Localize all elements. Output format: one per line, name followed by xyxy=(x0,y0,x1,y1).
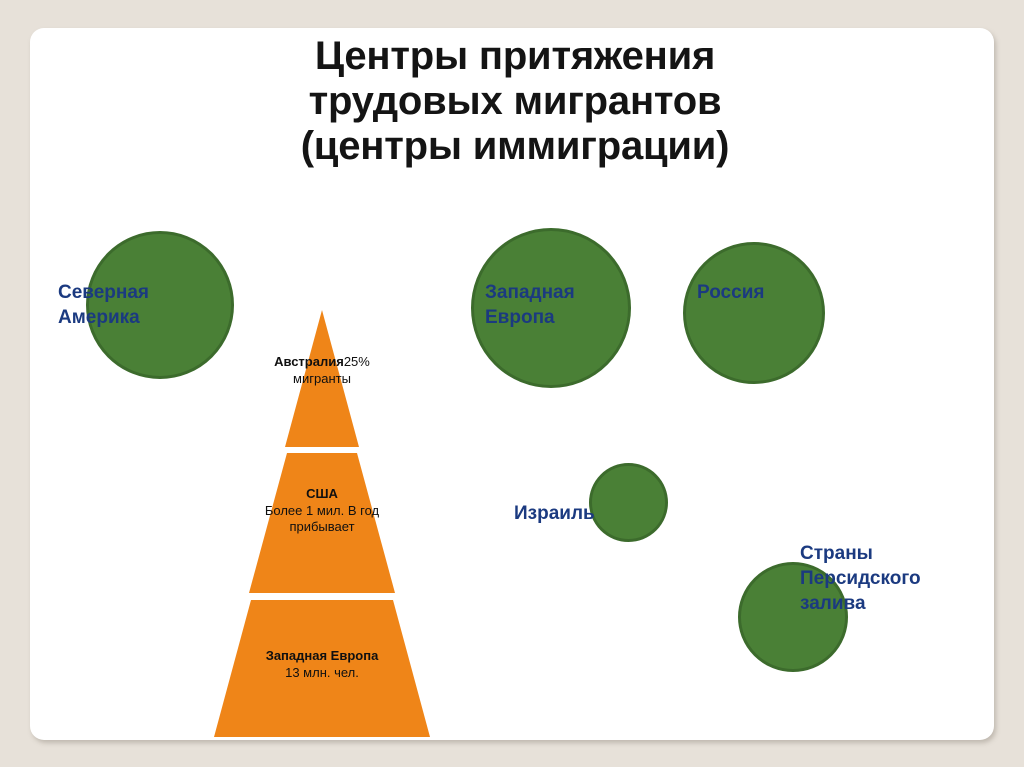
bubble-label-north-america: Северная Америка xyxy=(58,280,149,330)
pyramid-label-top-detail: мигранты xyxy=(222,371,422,388)
pyramid-label-middle-detail: прибывает xyxy=(222,519,422,536)
bubble-russia[interactable] xyxy=(683,242,825,384)
pyramid-label-bottom-region: Западная Европа xyxy=(266,648,379,663)
bubble-label-western-europe-line-2: Европа xyxy=(485,305,575,330)
bubble-label-russia: Россия xyxy=(697,280,764,305)
slide-canvas: Центры притяжения трудовых мигрантов (це… xyxy=(30,28,994,740)
bubble-label-israel-line-1: Израиль xyxy=(514,501,595,526)
bubble-label-north-america-line-1: Северная xyxy=(58,280,149,305)
title-line-1: Центры притяжения xyxy=(150,34,880,79)
pyramid-label-top-value: 25% xyxy=(344,354,370,369)
page-title: Центры притяжения трудовых мигрантов (це… xyxy=(150,34,880,168)
pyramid-label-bottom: Западная Европа 13 млн. чел. xyxy=(222,648,422,681)
pyramid-label-middle-value: Более 1 мил. В год xyxy=(222,503,422,520)
title-line-2: трудовых мигрантов xyxy=(150,79,880,124)
bubble-israel[interactable] xyxy=(589,463,668,542)
bubble-label-western-europe-line-1: Западная xyxy=(485,280,575,305)
bubble-label-persian-gulf-line-3: залива xyxy=(800,591,921,616)
title-line-3: (центры иммиграции) xyxy=(150,124,880,169)
slide-frame: Центры притяжения трудовых мигрантов (це… xyxy=(0,0,1024,767)
pyramid-label-bottom-value: 13 млн. чел. xyxy=(222,665,422,682)
pyramid-label-top: Австралия25% мигранты xyxy=(222,354,422,387)
pyramid-label-top-region: Австралия xyxy=(274,354,344,369)
pyramid-label-middle: США Более 1 мил. В год прибывает xyxy=(222,486,422,536)
bubble-label-persian-gulf: Страны Персидского залива xyxy=(800,541,921,616)
bubble-label-persian-gulf-line-2: Персидского xyxy=(800,566,921,591)
bubble-label-russia-line-1: Россия xyxy=(697,280,764,305)
bubble-label-israel: Израиль xyxy=(514,501,595,526)
bubble-label-persian-gulf-line-1: Страны xyxy=(800,541,921,566)
bubble-label-north-america-line-2: Америка xyxy=(58,305,149,330)
bubble-label-western-europe: Западная Европа xyxy=(485,280,575,330)
pyramid-label-middle-region: США xyxy=(306,486,338,501)
